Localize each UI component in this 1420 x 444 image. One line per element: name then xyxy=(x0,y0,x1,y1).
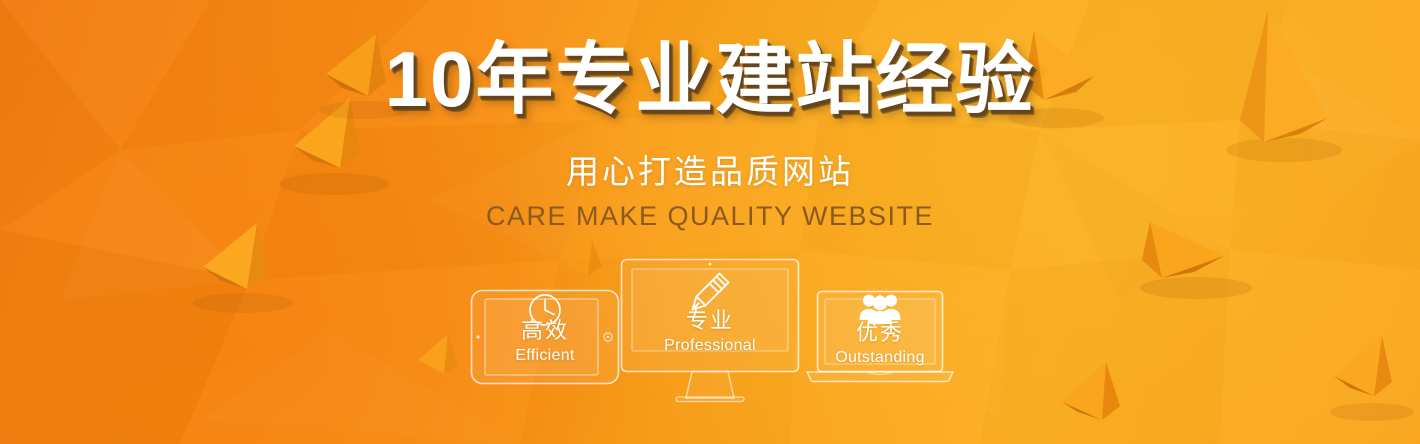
feature-label-en: Professional xyxy=(620,336,800,355)
device-illustrations: 高效 Efficient xyxy=(0,0,1420,444)
feature-label-cn: 优秀 xyxy=(805,320,955,345)
feature-label-cn: 高效 xyxy=(470,318,620,343)
feature-label-outstanding: 优秀 Outstanding xyxy=(805,320,955,367)
feature-label-efficient: 高效 Efficient xyxy=(470,318,620,365)
feature-label-professional: 专业 Professional xyxy=(620,308,800,355)
feature-label-en: Outstanding xyxy=(805,348,955,367)
feature-label-en: Efficient xyxy=(470,346,620,365)
feature-label-cn: 专业 xyxy=(620,308,800,333)
promo-banner: 10年专业建站经验 用心打造品质网站 CARE MAKE QUALITY WEB… xyxy=(0,0,1420,444)
